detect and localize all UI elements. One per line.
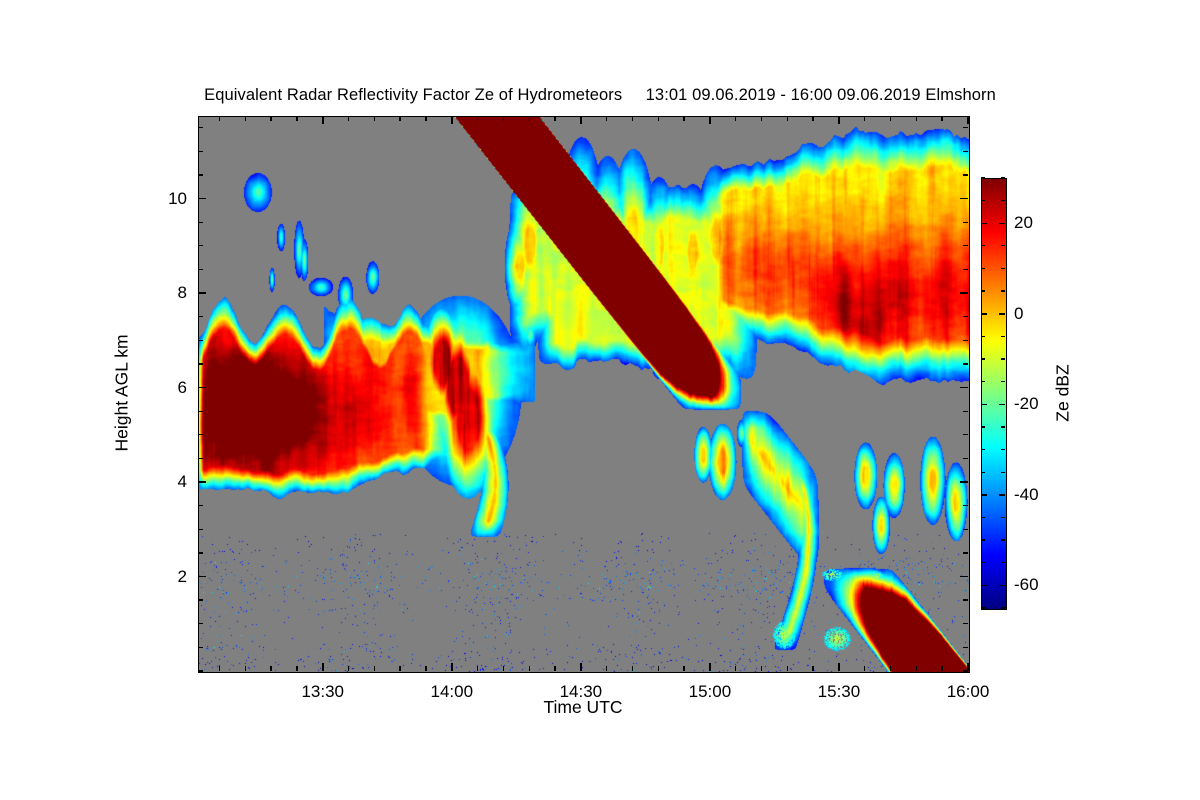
colorbar-tick-major (999, 223, 1005, 225)
colorbar-tick-major (981, 585, 987, 587)
colorbar-tick-major (981, 404, 987, 406)
colorbar-tick-label: 0 (1014, 304, 1023, 324)
x-tick-major (451, 663, 453, 671)
y-tick-minor (963, 363, 968, 364)
colorbar-tick-minor (981, 539, 985, 540)
x-tick-minor (941, 666, 942, 671)
colorbar-tick-minor (1001, 268, 1005, 269)
x-tick-minor (890, 116, 891, 121)
colorbar-tick-minor (1001, 200, 1005, 201)
colorbar-tick-minor (981, 268, 985, 269)
colorbar-tick-label: -40 (1014, 485, 1039, 505)
y-tick-minor (963, 151, 968, 152)
y-tick-minor (198, 151, 203, 152)
y-tick-minor (198, 411, 203, 412)
y-tick-major (960, 576, 968, 578)
colorbar-tick-major (981, 313, 987, 315)
x-tick-major (709, 116, 711, 124)
x-tick-minor (916, 666, 917, 671)
x-tick-minor (658, 116, 659, 121)
y-tick-minor (963, 623, 968, 624)
x-tick-minor (425, 116, 426, 121)
x-tick-minor (787, 116, 788, 121)
y-tick-minor (963, 529, 968, 530)
y-tick-minor (198, 127, 203, 128)
y-tick-minor (198, 222, 203, 223)
x-tick-major (322, 663, 324, 671)
y-tick-minor (198, 458, 203, 459)
x-tick-major (322, 116, 324, 124)
x-tick-minor (348, 116, 349, 121)
x-tick-minor (890, 666, 891, 671)
x-tick-minor (554, 666, 555, 671)
y-tick-label: 10 (168, 189, 187, 209)
colorbar-tick-minor (981, 358, 985, 359)
y-tick-major (198, 198, 206, 200)
y-tick-label: 2 (178, 567, 187, 587)
y-tick-minor (198, 340, 203, 341)
x-tick-major (451, 116, 453, 124)
y-tick-minor (198, 269, 203, 270)
colorbar-tick-minor (1001, 562, 1005, 563)
y-tick-minor (198, 529, 203, 530)
x-tick-minor (348, 666, 349, 671)
y-tick-minor (963, 647, 968, 648)
colorbar-tick-major (999, 313, 1005, 315)
y-tick-minor (963, 434, 968, 435)
colorbar-tick-major (981, 494, 987, 496)
x-tick-minor (219, 116, 220, 121)
colorbar (981, 178, 1007, 610)
x-tick-minor (477, 116, 478, 121)
y-tick-minor (963, 222, 968, 223)
x-tick-minor (787, 666, 788, 671)
colorbar-tick-minor (1001, 607, 1005, 608)
x-tick-major (967, 116, 969, 124)
x-tick-minor (864, 666, 865, 671)
page-title: Equivalent Radar Reflectivity Factor Ze … (0, 86, 1200, 105)
x-tick-minor (245, 116, 246, 121)
colorbar-tick-minor (981, 562, 985, 563)
colorbar-tick-minor (1001, 358, 1005, 359)
y-tick-major (198, 292, 206, 294)
x-tick-minor (735, 116, 736, 121)
colorbar-tick-minor (981, 607, 985, 608)
colorbar-tick-label: 20 (1014, 213, 1033, 233)
radar-reflectivity-figure: Equivalent Radar Reflectivity Factor Ze … (0, 0, 1200, 800)
x-tick-minor (219, 666, 220, 671)
y-tick-minor (198, 552, 203, 553)
y-tick-major (960, 481, 968, 483)
colorbar-tick-label: -20 (1014, 394, 1039, 414)
x-tick-minor (503, 666, 504, 671)
colorbar-tick-minor (1001, 539, 1005, 540)
x-tick-minor (735, 666, 736, 671)
x-tick-minor (296, 116, 297, 121)
x-axis-title: Time UTC (543, 697, 622, 718)
x-tick-minor (632, 116, 633, 121)
y-tick-minor (198, 316, 203, 317)
y-tick-minor (963, 599, 968, 600)
x-tick-major (580, 663, 582, 671)
y-tick-major (198, 576, 206, 578)
y-tick-minor (963, 245, 968, 246)
y-tick-label: 8 (178, 283, 187, 303)
colorbar-title: Ze dBZ (1053, 364, 1074, 421)
x-tick-minor (503, 116, 504, 121)
y-tick-minor (963, 505, 968, 506)
x-tick-minor (683, 666, 684, 671)
colorbar-tick-minor (981, 517, 985, 518)
y-tick-major (960, 387, 968, 389)
y-tick-major (960, 292, 968, 294)
colorbar-tick-minor (1001, 472, 1005, 473)
x-tick-minor (916, 116, 917, 121)
colorbar-tick-minor (1001, 426, 1005, 427)
y-tick-label: 6 (178, 378, 187, 398)
x-tick-minor (864, 116, 865, 121)
y-tick-minor (963, 411, 968, 412)
y-tick-major (198, 481, 206, 483)
y-tick-label: 4 (178, 472, 187, 492)
x-tick-minor (812, 666, 813, 671)
y-tick-minor (198, 245, 203, 246)
colorbar-tick-minor (1001, 336, 1005, 337)
y-axis-title: Height AGL km (112, 334, 133, 451)
y-tick-minor (198, 505, 203, 506)
y-tick-minor (198, 647, 203, 648)
y-tick-minor (198, 670, 203, 671)
x-tick-major (967, 663, 969, 671)
y-tick-minor (963, 174, 968, 175)
y-tick-minor (963, 316, 968, 317)
x-tick-minor (554, 116, 555, 121)
y-tick-minor (963, 458, 968, 459)
x-tick-minor (632, 666, 633, 671)
colorbar-tick-minor (981, 381, 985, 382)
colorbar-tick-minor (1001, 381, 1005, 382)
reflectivity-heatmap (199, 117, 969, 672)
colorbar-tick-minor (1001, 517, 1005, 518)
colorbar-tick-minor (1001, 245, 1005, 246)
y-tick-minor (963, 340, 968, 341)
colorbar-tick-minor (1001, 290, 1005, 291)
x-tick-minor (606, 666, 607, 671)
plot-area (198, 116, 970, 673)
x-tick-minor (941, 116, 942, 121)
colorbar-tick-major (999, 494, 1005, 496)
x-tick-minor (270, 116, 271, 121)
colorbar-tick-label: -60 (1014, 575, 1039, 595)
x-tick-label: 15:30 (818, 682, 861, 702)
x-tick-minor (658, 666, 659, 671)
y-tick-minor (198, 599, 203, 600)
y-tick-minor (198, 174, 203, 175)
x-tick-minor (296, 666, 297, 671)
title-time-range: 13:01 09.06.2019 - 16:00 09.06.2019 Elms… (646, 86, 996, 105)
x-tick-minor (245, 666, 246, 671)
x-tick-label: 15:00 (689, 682, 732, 702)
y-tick-minor (963, 269, 968, 270)
colorbar-tick-minor (981, 472, 985, 473)
x-tick-minor (374, 116, 375, 121)
colorbar-tick-minor (1001, 449, 1005, 450)
colorbar-tick-minor (981, 177, 985, 178)
x-tick-major (580, 116, 582, 124)
x-tick-minor (477, 666, 478, 671)
y-tick-major (960, 198, 968, 200)
x-tick-minor (399, 666, 400, 671)
colorbar-tick-minor (981, 290, 985, 291)
y-tick-minor (963, 127, 968, 128)
title-main: Equivalent Radar Reflectivity Factor Ze … (204, 86, 622, 105)
x-tick-minor (270, 666, 271, 671)
x-tick-minor (529, 666, 530, 671)
x-tick-minor (606, 116, 607, 121)
y-tick-major (198, 387, 206, 389)
colorbar-tick-minor (981, 449, 985, 450)
colorbar-tick-minor (981, 245, 985, 246)
x-tick-minor (761, 666, 762, 671)
y-tick-minor (963, 552, 968, 553)
x-tick-label: 13:30 (301, 682, 344, 702)
colorbar-tick-minor (981, 200, 985, 201)
x-tick-label: 16:00 (947, 682, 990, 702)
colorbar-tick-minor (981, 336, 985, 337)
x-tick-minor (761, 116, 762, 121)
x-tick-minor (812, 116, 813, 121)
y-tick-minor (198, 623, 203, 624)
x-tick-major (838, 116, 840, 124)
colorbar-tick-minor (1001, 177, 1005, 178)
y-tick-minor (198, 434, 203, 435)
x-tick-minor (399, 116, 400, 121)
colorbar-tick-minor (981, 426, 985, 427)
x-tick-major (838, 663, 840, 671)
x-tick-minor (529, 116, 530, 121)
x-tick-minor (374, 666, 375, 671)
x-tick-label: 14:00 (431, 682, 474, 702)
x-tick-minor (683, 116, 684, 121)
y-tick-minor (198, 363, 203, 364)
x-tick-minor (425, 666, 426, 671)
colorbar-tick-major (999, 585, 1005, 587)
colorbar-gradient (982, 179, 1006, 609)
x-tick-major (709, 663, 711, 671)
colorbar-tick-major (999, 404, 1005, 406)
colorbar-tick-major (981, 223, 987, 225)
